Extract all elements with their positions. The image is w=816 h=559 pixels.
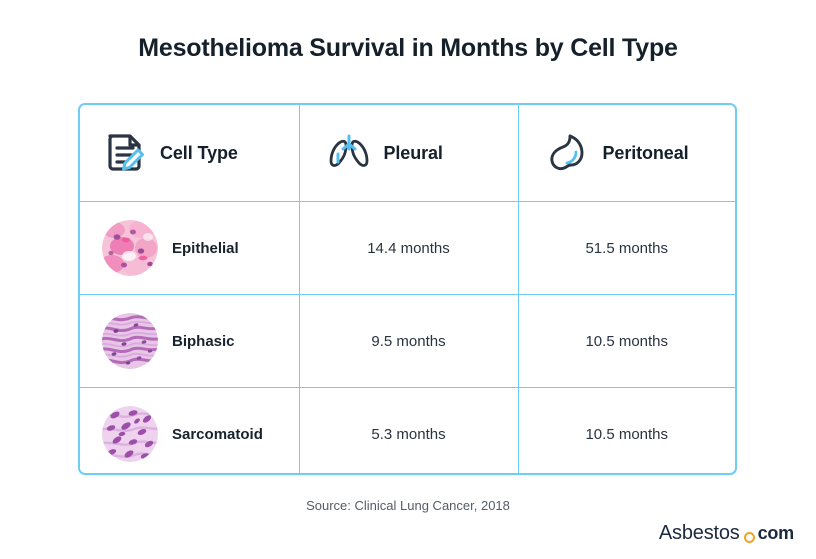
header-label-celltype: Cell Type [160, 143, 238, 164]
pleural-value: 9.5 months [299, 295, 518, 388]
stomach-icon [545, 130, 591, 176]
lungs-icon [326, 130, 372, 176]
logo-brand-text: Asbestos [659, 523, 740, 543]
table-row: Epithelial 14.4 months 51.5 months [80, 202, 735, 295]
infographic-page: Mesothelioma Survival in Months by Cell … [0, 0, 816, 559]
cell-type-cell: Epithelial [80, 202, 299, 295]
cell-type-label: Biphasic [172, 333, 235, 350]
source-citation: Source: Clinical Lung Cancer, 2018 [0, 498, 816, 513]
epithelial-histology-image [102, 220, 158, 276]
peritoneal-value: 10.5 months [518, 295, 735, 388]
header-label-pleural: Pleural [384, 143, 443, 164]
table-header-row: Cell Type [80, 105, 735, 202]
asbestos-com-logo[interactable]: Asbestos com [659, 523, 794, 543]
survival-table: Cell Type [78, 103, 737, 475]
sarcomatoid-histology-image [102, 406, 158, 462]
header-cell-peritoneal: Peritoneal [518, 105, 735, 202]
header-cell-pleural: Pleural [299, 105, 518, 202]
peritoneal-value: 10.5 months [518, 388, 735, 476]
cell-type-cell: Biphasic [80, 295, 299, 388]
header-label-peritoneal: Peritoneal [603, 143, 689, 164]
page-title: Mesothelioma Survival in Months by Cell … [0, 34, 816, 63]
peritoneal-value: 51.5 months [518, 202, 735, 295]
biphasic-histology-image [102, 313, 158, 369]
table-row: Sarcomatoid 5.3 months 10.5 months [80, 388, 735, 476]
cell-type-label: Sarcomatoid [172, 426, 263, 443]
cell-type-cell: Sarcomatoid [80, 388, 299, 476]
orange-ring-icon [744, 532, 755, 543]
header-cell-celltype: Cell Type [80, 105, 299, 202]
table-row: Biphasic 9.5 months 10.5 months [80, 295, 735, 388]
cell-type-label: Epithelial [172, 240, 239, 257]
logo-tld-text: com [758, 524, 794, 542]
document-pencil-icon [102, 130, 148, 176]
pleural-value: 14.4 months [299, 202, 518, 295]
pleural-value: 5.3 months [299, 388, 518, 476]
